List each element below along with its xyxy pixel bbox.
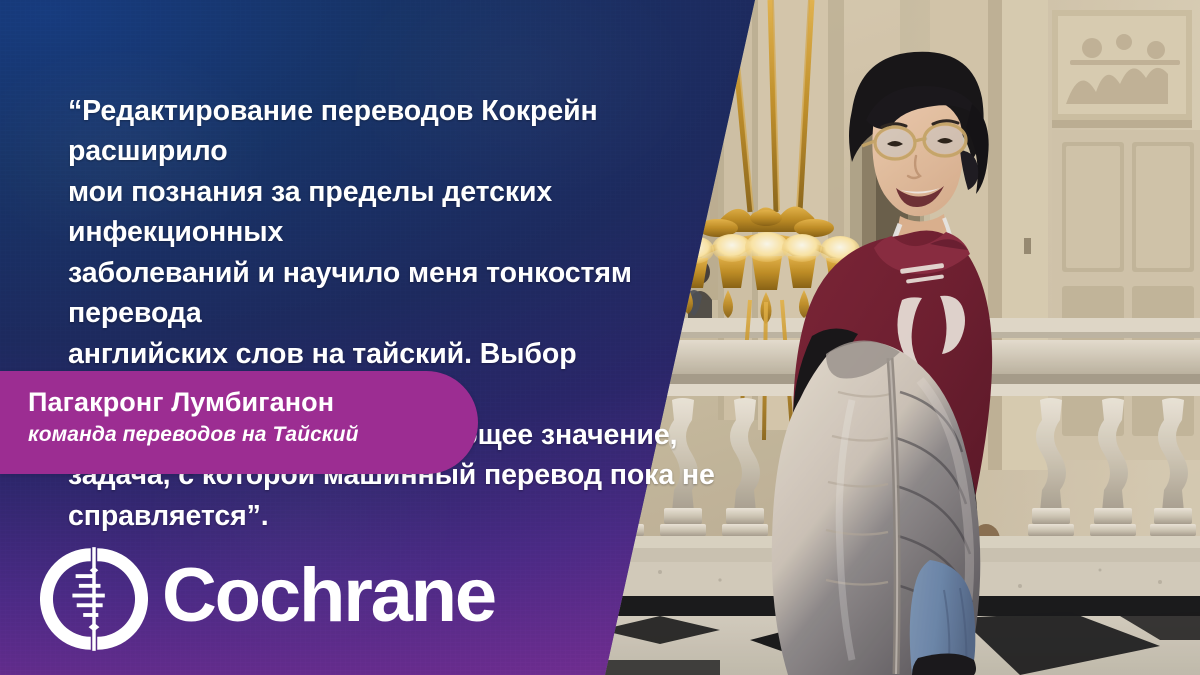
attribution-badge: Пагакронг Лумбиганон команда переводов н… (0, 371, 478, 474)
person-name: Пагакронг Лумбиганон (28, 387, 334, 418)
person-role: команда переводов на Тайский (28, 423, 359, 447)
promo-graphic: “Редактирование переводов Кокрейн расшир… (0, 0, 1200, 675)
cochrane-forest-plot-circle-icon (40, 545, 148, 653)
cochrane-logo: Cochrane (40, 545, 495, 653)
cochrane-wordmark: Cochrane (162, 558, 495, 634)
